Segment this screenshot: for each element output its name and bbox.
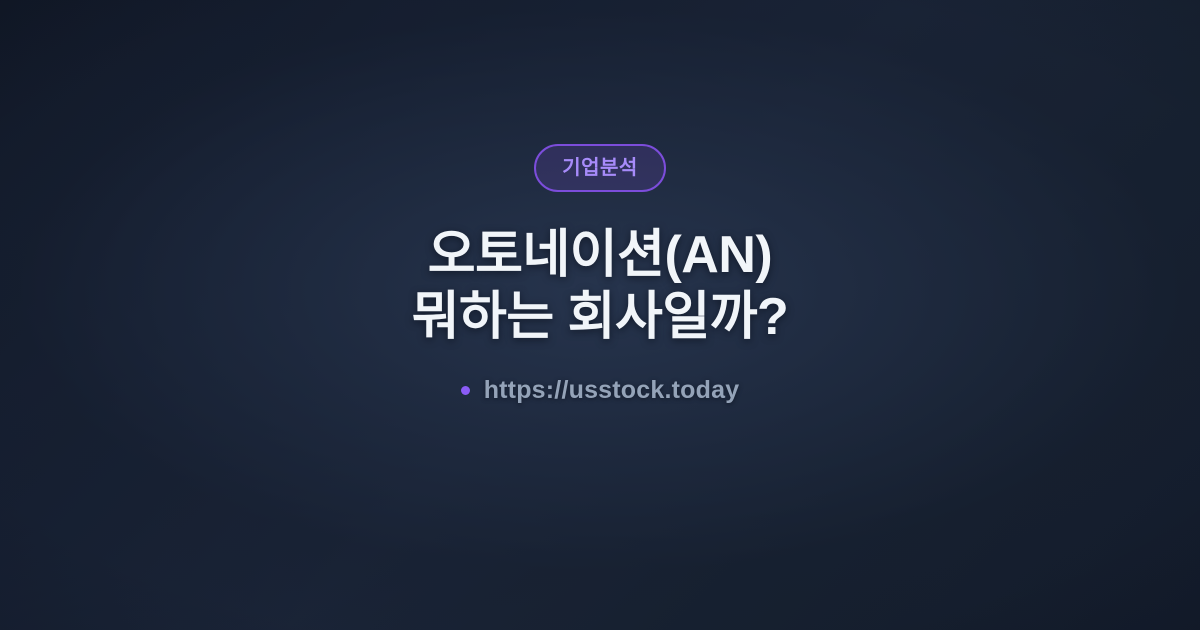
page-title: 오토네이션(AN) 뭐하는 회사일까? — [412, 224, 789, 348]
page-title-line-1: 오토네이션(AN) — [412, 224, 789, 286]
og-share-card: 기업분석 오토네이션(AN) 뭐하는 회사일까? https://usstock… — [0, 0, 1200, 630]
bullet-dot-icon — [461, 386, 470, 395]
category-badge: 기업분석 — [534, 144, 666, 192]
site-url-text: https://usstock.today — [484, 378, 740, 403]
page-title-line-2: 뭐하는 회사일까? — [412, 286, 789, 348]
site-url-row: https://usstock.today — [461, 378, 740, 403]
card-content: 기업분석 오토네이션(AN) 뭐하는 회사일까? https://usstock… — [0, 0, 1200, 630]
